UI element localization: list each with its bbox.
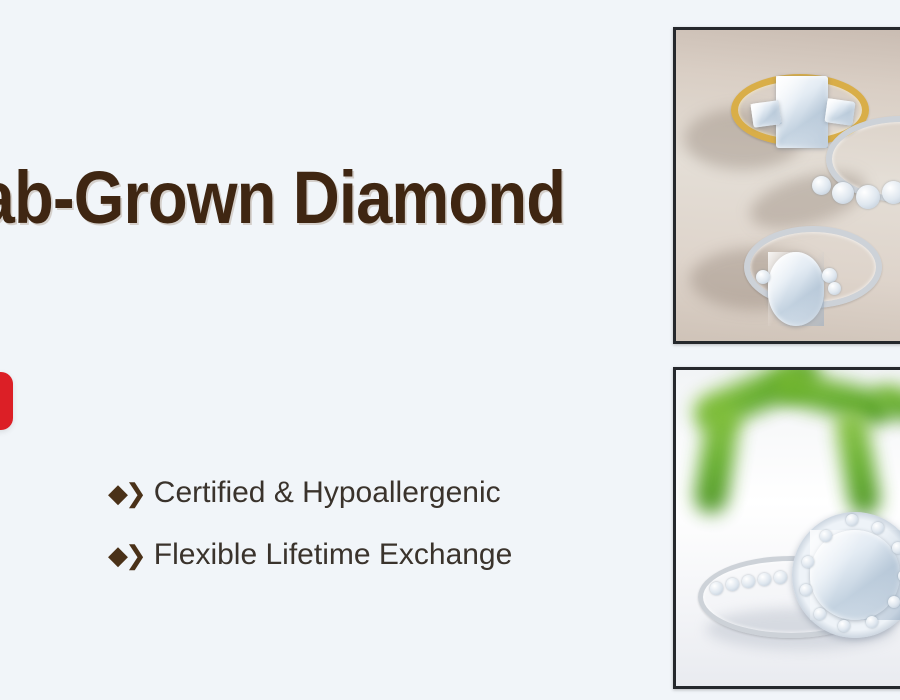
oval-cut-diamond [768, 252, 824, 326]
diamond-rings-trio-photo [673, 27, 900, 344]
red-rounded-badge [0, 372, 13, 430]
diamond-chevron-icon: ◆❯ [108, 480, 144, 506]
emerald-cut-diamond [776, 76, 828, 148]
list-item: ◆❯ ds [0, 462, 40, 524]
center-round-diamond [810, 530, 900, 620]
photo-canvas [676, 30, 900, 341]
feature-label: Flexible Lifetime Exchange [154, 538, 513, 572]
photo-canvas [676, 370, 900, 686]
side-baguette-diamond [824, 98, 855, 126]
feature-column-left: ◆❯ ds [0, 462, 40, 524]
text-column: al Lab-Grown Diamond ◆❯ ds ◆❯ Certified … [0, 0, 660, 700]
list-item: ◆❯ Certified & Hypoallergenic [108, 462, 648, 524]
feature-label: Certified & Hypoallergenic [154, 476, 501, 510]
diamond-chevron-icon: ◆❯ [108, 542, 144, 568]
feature-column-right: ◆❯ Certified & Hypoallergenic ◆❯ Flexibl… [108, 462, 648, 586]
feature-list: ◆❯ ds ◆❯ Certified & Hypoallergenic ◆❯ F… [0, 462, 660, 592]
page-title: al Lab-Grown Diamond [0, 158, 565, 238]
promo-banner: al Lab-Grown Diamond ◆❯ ds ◆❯ Certified … [0, 0, 900, 700]
halo-diamond-ring-photo [673, 367, 900, 689]
list-item: ◆❯ Flexible Lifetime Exchange [108, 524, 648, 586]
side-baguette-diamond [750, 100, 781, 128]
